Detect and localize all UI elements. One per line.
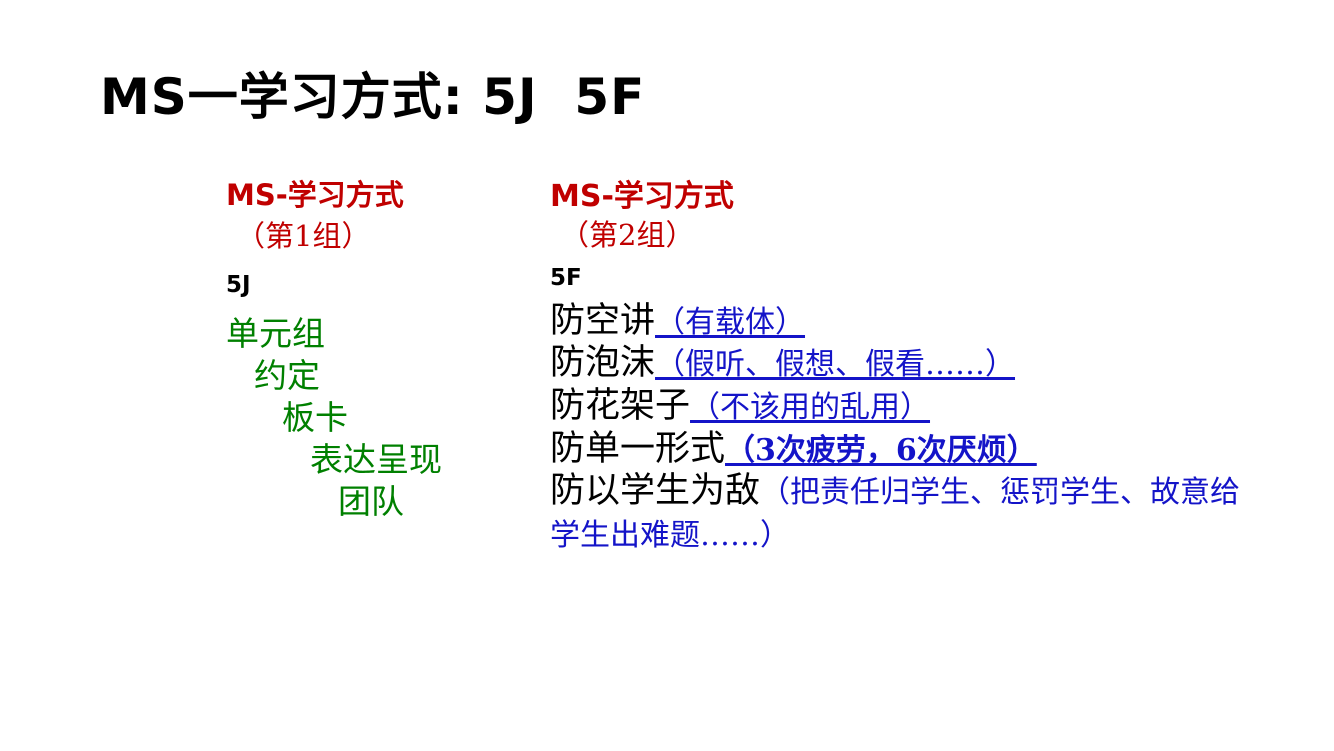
prevent-item: 防单一形式（3次疲劳，6次厌烦）: [550, 428, 1250, 471]
stair-item: 约定: [226, 355, 526, 397]
page-title: MS一学习方式: 5J 5F: [100, 72, 645, 122]
prevent-item: 防以学生为敌（把责任归学生、惩罚学生、故意给学生出难题……）: [550, 470, 1250, 555]
prevent-item-main: 防单一形式: [550, 429, 725, 469]
prevent-item-note: （3次疲劳，6次厌烦）: [725, 433, 1037, 468]
stair-item: 板卡: [226, 397, 526, 439]
stair-item: 团队: [226, 481, 526, 523]
prevent-item-main: 防以学生为敌: [550, 471, 760, 511]
prevent-item: 防花架子（不该用的乱用）: [550, 385, 1250, 428]
right-column-subheading: （第2组）: [550, 219, 1250, 252]
prevent-item: 防空讲（有载体）: [550, 300, 1250, 343]
left-column-code-label: 5J: [226, 273, 526, 298]
right-column: MS-学习方式 （第2组） 5F 防空讲（有载体）防泡沫（假听、假想、假看……）…: [550, 180, 1250, 572]
prevent-item-main: 防空讲: [550, 301, 655, 341]
prevent-item: 防泡沫（假听、假想、假看……）: [550, 342, 1250, 385]
prevent-item-main: 防花架子: [550, 386, 690, 426]
prevent-list: 防空讲（有载体）防泡沫（假听、假想、假看……）防花架子（不该用的乱用）防单一形式…: [550, 300, 1250, 556]
left-column-subheading: （第1组）: [226, 220, 526, 253]
stair-item: 单元组: [226, 313, 526, 355]
left-column-heading: MS-学习方式: [226, 180, 526, 212]
left-column: MS-学习方式 （第1组） 5J 单元组约定板卡表达呈现团队: [226, 180, 526, 540]
right-column-code-label: 5F: [550, 266, 1250, 291]
stair-item: 表达呈现: [226, 439, 526, 481]
stair-list: 单元组约定板卡表达呈现团队: [226, 313, 526, 524]
prevent-item-note: （假听、假想、假看……）: [655, 347, 1015, 382]
prevent-item-note: （有载体）: [655, 305, 805, 340]
right-column-heading: MS-学习方式: [550, 180, 1250, 213]
slide-canvas: MS一学习方式: 5J 5F MS-学习方式 （第1组） 5J 单元组约定板卡表…: [0, 0, 1334, 751]
prevent-item-main: 防泡沫: [550, 343, 655, 383]
prevent-item-note: （不该用的乱用）: [690, 390, 930, 425]
